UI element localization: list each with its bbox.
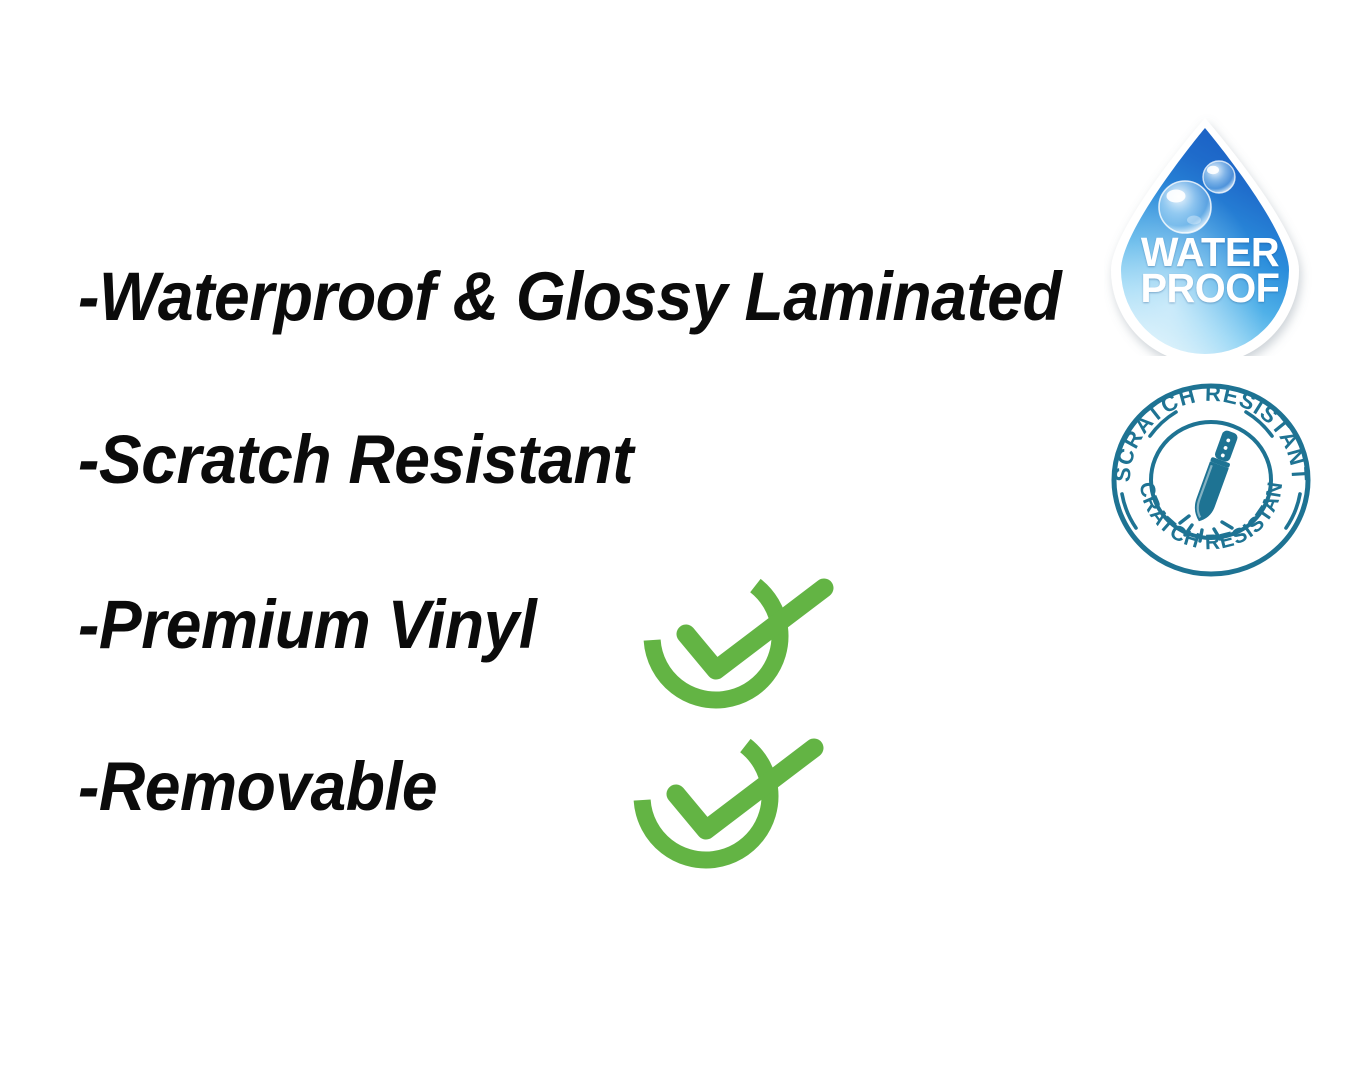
feature-item-waterproof-glossy-laminated: -Waterproof & Glossy Laminated xyxy=(78,262,1061,331)
scratch-resistant-stamp-icon: SCRATCH RESISTANT SCRATCH RESISTANT xyxy=(1110,382,1312,578)
feature-item-scratch-resistant: -Scratch Resistant xyxy=(78,425,633,494)
scratch-resistant-badge: SCRATCH RESISTANT SCRATCH RESISTANT xyxy=(1110,382,1312,578)
check-mark-removable xyxy=(628,718,828,878)
check-circle-icon xyxy=(628,718,828,878)
water-drop-icon xyxy=(1104,112,1316,356)
knife-icon xyxy=(1189,429,1240,525)
feature-item-premium-vinyl: -Premium Vinyl xyxy=(78,590,536,659)
feature-item-removable: -Removable xyxy=(78,752,437,821)
check-circle-icon xyxy=(638,558,838,718)
bubble-large-icon xyxy=(1159,181,1211,233)
feature-list-graphic: -Waterproof & Glossy Laminated -Scratch … xyxy=(0,0,1359,1080)
waterproof-badge: WATER PROOF xyxy=(1104,112,1316,356)
check-mark-premium-vinyl xyxy=(638,558,838,718)
bubble-small-icon xyxy=(1203,161,1235,193)
